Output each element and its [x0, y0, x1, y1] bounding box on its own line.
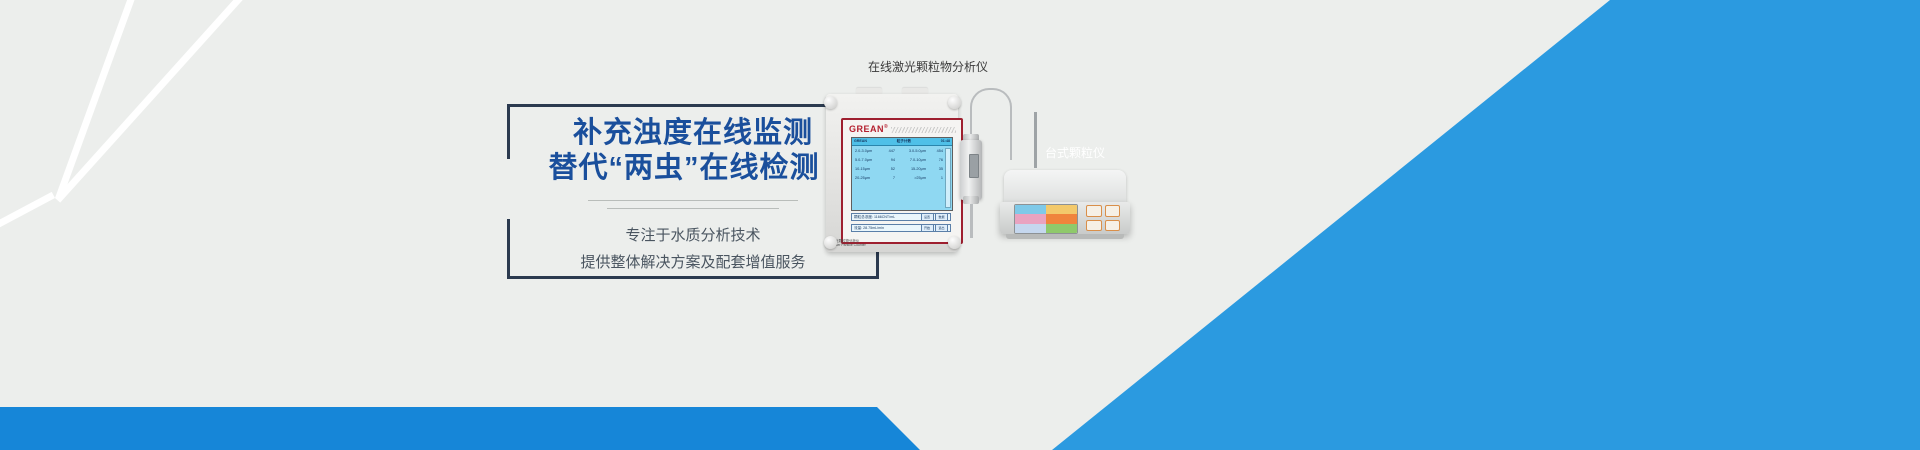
- divider-lower: [607, 208, 779, 209]
- bench-key[interactable]: [1105, 220, 1121, 232]
- lcd-table-row: 20-25μm 7 >25μm 1: [855, 177, 949, 181]
- promo-banner: 补充浊度在线监测 替代“两虫”在线检测 专注于水质分析技术 提供整体解决方案及配…: [0, 0, 1920, 450]
- lcd-value-left: 94: [879, 159, 895, 163]
- lcd-title: 粒子计数: [897, 140, 911, 144]
- lcd-value-right: 454: [926, 150, 943, 154]
- divider-upper: [588, 200, 798, 201]
- analyzer-button-exit[interactable]: 退出: [935, 224, 948, 232]
- lcd-title-bar: GREAN 粒子计数 01:48: [852, 138, 952, 146]
- analyzer-button-settings[interactable]: 设置: [921, 213, 934, 221]
- lcd-range-left: 20-25μm: [855, 177, 879, 181]
- lcd-table-row: 5.0-7.0μm 94 7.0-10μm 76: [855, 159, 949, 163]
- lcd-value-right: 35: [926, 168, 943, 172]
- lcd-value-right: 1: [926, 177, 943, 181]
- lcd-range-left: 10-15μm: [855, 168, 879, 172]
- analyzer-latch-knob: [824, 96, 837, 109]
- analyzer-lcd-screen[interactable]: GREAN 粒子计数 01:48 2.0-3.0μm 447 3.0-5.0μm…: [851, 137, 953, 211]
- lcd-range-right: 15-20μm: [895, 168, 926, 172]
- bench-screen-tile: [1015, 205, 1046, 214]
- analyzer-brand-text: GREAN: [849, 124, 884, 134]
- lcd-status: 01:48: [941, 140, 950, 144]
- lcd-value-right: 76: [926, 159, 943, 163]
- lcd-range-right: 3.0-5.0μm: [895, 150, 926, 154]
- bench-screen-tile: [1015, 214, 1046, 223]
- analyzer-latch-knob: [948, 96, 961, 109]
- lcd-value-left: 7: [879, 177, 895, 181]
- label-bench-counter: 台式颗粒仪: [1045, 144, 1105, 161]
- analyzer-latch-knob: [948, 236, 961, 249]
- lcd-range-left: 2.0-3.0μm: [855, 150, 879, 154]
- bench-screen-tile: [1015, 224, 1046, 233]
- label-online-analyzer: 在线激光颗粒物分析仪: [868, 58, 988, 75]
- analyzer-button-data[interactable]: 数据: [935, 213, 948, 221]
- sensor-cap-bottom: [963, 196, 979, 204]
- online-analyzer-device: GREAN® GREAN 粒子计数 01:48 2.0-3.0μm 447 3.…: [818, 84, 966, 259]
- lcd-data-table: 2.0-3.0μm 447 3.0-5.0μm 454 5.0-7.0μm 94…: [852, 146, 952, 188]
- analyzer-flow-text: 流量: 28.75mL/min: [854, 226, 919, 231]
- bench-screen-tile: [1046, 205, 1077, 214]
- analyzer-front-panel: GREAN® GREAN 粒子计数 01:48 2.0-3.0μm 447 3.…: [841, 118, 963, 244]
- bench-keypad[interactable]: [1086, 205, 1120, 231]
- sensor-window: [969, 154, 979, 178]
- lcd-range-right: >25μm: [895, 177, 926, 181]
- analyzer-brand-mark: ®: [884, 124, 888, 130]
- bench-key[interactable]: [1086, 220, 1102, 232]
- bench-sampling-rod: [1034, 112, 1037, 168]
- analyzer-enclosure: GREAN® GREAN 粒子计数 01:48 2.0-3.0μm 447 3.…: [826, 94, 958, 252]
- analyzer-latch-knob: [824, 236, 837, 249]
- analyzer-status-row-2: 流量: 28.75mL/min 开始 退出: [851, 224, 951, 232]
- lcd-range-right: 7.0-10μm: [895, 159, 926, 163]
- lcd-brand: GREAN: [854, 140, 867, 144]
- analyzer-status-row-1: 颗粒总浓度: 1166CNT/mL 设置 数据: [851, 213, 951, 221]
- analyzer-nameplate-en: Laser Particle Counter: [832, 243, 866, 248]
- bench-foot-strip: [1006, 234, 1124, 239]
- bench-key[interactable]: [1086, 205, 1102, 217]
- lcd-scrollbar[interactable]: [945, 148, 951, 208]
- analyzer-concentration-text: 颗粒总浓度: 1166CNT/mL: [854, 215, 919, 220]
- bench-touch-screen[interactable]: [1014, 204, 1078, 234]
- analyzer-nameplate: 激光颗粒物分析仪 Laser Particle Counter: [832, 239, 866, 248]
- analyzer-button-start[interactable]: 开始: [921, 224, 934, 232]
- lcd-value-left: 52: [879, 168, 895, 172]
- analyzer-brand-logo: GREAN®: [849, 124, 888, 134]
- lcd-table-row: 2.0-3.0μm 447 3.0-5.0μm 454: [855, 150, 949, 154]
- bench-screen-tile: [1046, 214, 1077, 223]
- lcd-table-row: 10-15μm 52 15-20μm 35: [855, 168, 949, 172]
- lcd-value-left: 447: [879, 150, 895, 154]
- bench-screen-tile: [1046, 224, 1077, 233]
- bench-key[interactable]: [1105, 205, 1121, 217]
- bench-upper-shell: [1004, 170, 1126, 206]
- bench-counter-device: [1000, 160, 1130, 250]
- frame-edge-bottom: [507, 276, 879, 279]
- analyzer-vent-hatch: [891, 127, 956, 133]
- lcd-range-left: 5.0-7.0μm: [855, 159, 879, 163]
